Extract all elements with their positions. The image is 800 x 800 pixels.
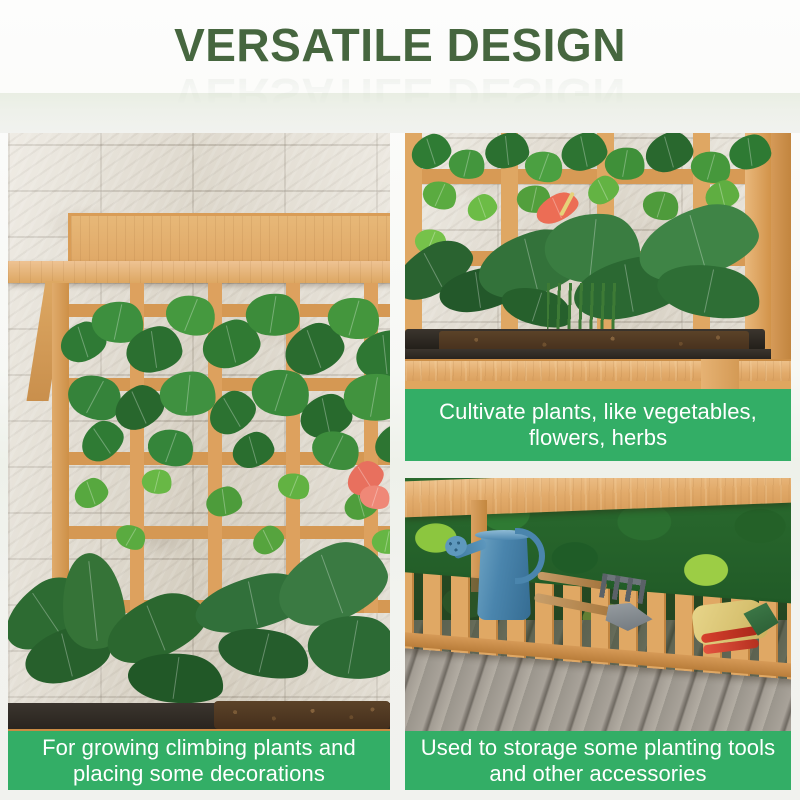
rake-handle	[537, 571, 607, 590]
header-banner: VERSATILE DESIGN VERSATILE DESIGN	[0, 0, 800, 133]
planter-foliage	[8, 533, 390, 723]
caption-cultivate-plants: Cultivate plants, like vegetables, flowe…	[405, 389, 791, 461]
planter-top-rail	[8, 261, 390, 283]
caption-storage-tools: Used to storage some planting tools and …	[405, 731, 791, 790]
climbing-plants-photo	[8, 133, 390, 790]
caption-climbing-plants: For growing climbing plants and placing …	[8, 731, 390, 790]
header-floor-gradient	[0, 93, 800, 133]
page-title: VERSATILE DESIGN	[0, 22, 800, 68]
photo-canvas-left	[8, 133, 390, 790]
plant-stems-tr	[547, 283, 617, 333]
pothos-vine-cluster	[56, 283, 390, 473]
planter-soil	[214, 701, 390, 729]
